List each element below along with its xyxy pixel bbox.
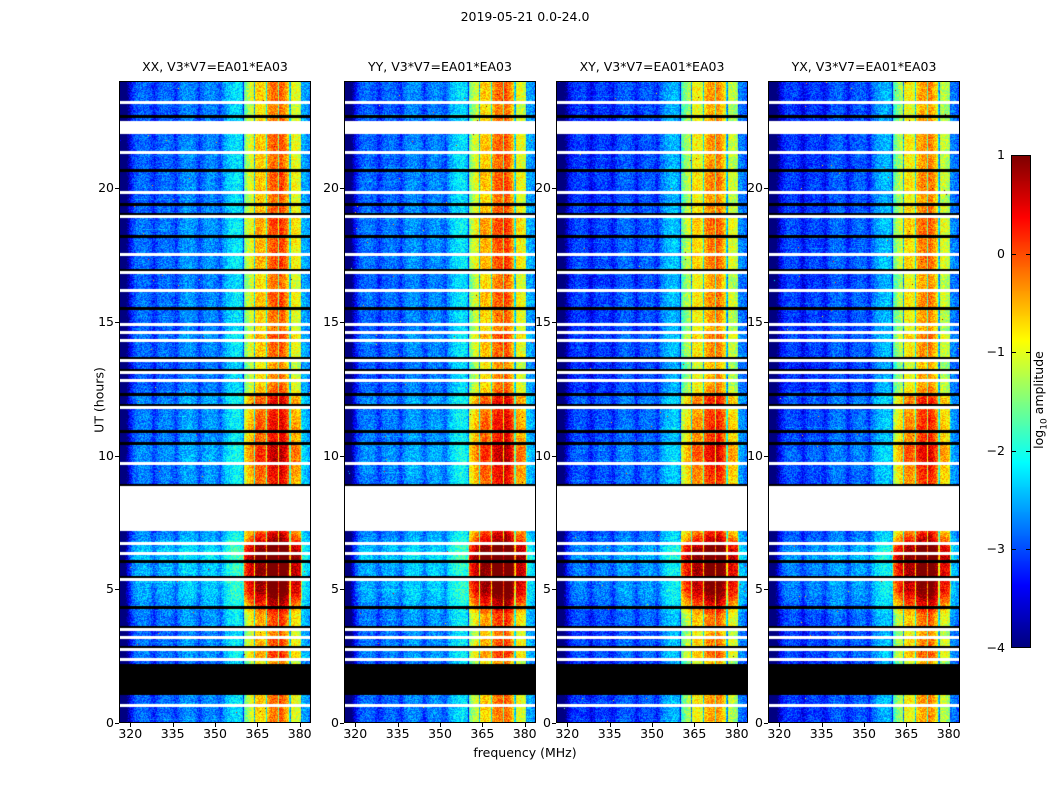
- figure-suptitle: 2019-05-21 0.0-24.0: [0, 9, 1050, 24]
- y-tick-label: 5: [543, 583, 551, 596]
- colorbar-tick-label: −4: [987, 642, 1005, 655]
- panel-yy[interactable]: YY, V3*V7=EA01*EA03051015203203353503653…: [344, 81, 536, 723]
- colorbar-tick-label: −2: [987, 445, 1005, 458]
- x-tick-label: 335: [810, 728, 834, 741]
- y-tick-mark: [115, 456, 119, 457]
- x-tick-label: 350: [428, 728, 452, 741]
- y-tick-label: 0: [755, 717, 763, 730]
- panel-title-yy: YY, V3*V7=EA01*EA03: [344, 59, 536, 74]
- y-tick-mark: [552, 723, 556, 724]
- y-tick-mark: [115, 322, 119, 323]
- colorbar-tick-mark: [1026, 254, 1031, 255]
- y-tick-label: 20: [535, 182, 551, 195]
- panel-frame: [768, 81, 960, 723]
- y-tick-label: 5: [331, 583, 339, 596]
- y-tick-label: 15: [535, 316, 551, 329]
- y-tick-mark: [340, 723, 344, 724]
- x-tick-label: 335: [386, 728, 410, 741]
- panel-frame: [556, 81, 748, 723]
- panel-title-xy: XY, V3*V7=EA01*EA03: [556, 59, 748, 74]
- panel-xx[interactable]: XX, V3*V7=EA01*EA03051015203203353503653…: [119, 81, 311, 723]
- y-axis-label: UT (hours): [91, 367, 106, 433]
- colorbar-label-prefix: log: [1031, 430, 1046, 449]
- x-tick-label: 335: [598, 728, 622, 741]
- y-tick-mark: [764, 456, 768, 457]
- y-tick-label: 0: [331, 717, 339, 730]
- y-tick-mark: [552, 589, 556, 590]
- y-tick-label: 10: [535, 449, 551, 462]
- y-tick-label: 10: [98, 449, 114, 462]
- y-tick-mark: [552, 322, 556, 323]
- x-tick-label: 380: [937, 728, 961, 741]
- panel-xy[interactable]: XY, V3*V7=EA01*EA03051015203203353503653…: [556, 81, 748, 723]
- x-tick-label: 320: [555, 728, 579, 741]
- y-tick-label: 10: [323, 449, 339, 462]
- y-tick-mark: [115, 188, 119, 189]
- colorbar-tick-mark: [1011, 549, 1016, 550]
- x-tick-label: 320: [118, 728, 142, 741]
- x-tick-label: 380: [513, 728, 537, 741]
- y-tick-label: 20: [747, 182, 763, 195]
- x-tick-label: 380: [725, 728, 749, 741]
- y-tick-mark: [764, 589, 768, 590]
- y-tick-label: 15: [747, 316, 763, 329]
- y-tick-label: 20: [98, 182, 114, 195]
- colorbar-tick-label: −3: [987, 543, 1005, 556]
- x-tick-label: 320: [767, 728, 791, 741]
- y-tick-label: 5: [755, 583, 763, 596]
- colorbar-tick-label: −1: [987, 346, 1005, 359]
- colorbar-tick-label: 1: [997, 149, 1005, 162]
- colorbar-tick-mark: [1011, 254, 1016, 255]
- y-tick-mark: [340, 188, 344, 189]
- colorbar-tick-label: 0: [997, 247, 1005, 260]
- x-tick-label: 320: [343, 728, 367, 741]
- colorbar-label: log10 amplitude: [1031, 351, 1050, 449]
- x-tick-label: 335: [161, 728, 185, 741]
- y-tick-mark: [764, 322, 768, 323]
- x-tick-label: 350: [852, 728, 876, 741]
- y-tick-label: 15: [98, 316, 114, 329]
- y-tick-mark: [115, 589, 119, 590]
- x-tick-label: 350: [203, 728, 227, 741]
- panel-frame: [344, 81, 536, 723]
- colorbar-label-suffix: amplitude: [1031, 351, 1046, 418]
- colorbar-frame: [1011, 155, 1031, 648]
- y-tick-label: 15: [323, 316, 339, 329]
- y-tick-mark: [340, 456, 344, 457]
- y-tick-mark: [552, 456, 556, 457]
- y-tick-mark: [764, 188, 768, 189]
- figure-canvas: 2019-05-21 0.0-24.0 UT (hours) frequency…: [0, 0, 1050, 800]
- x-tick-label: 365: [682, 728, 706, 741]
- y-tick-label: 5: [106, 583, 114, 596]
- y-tick-label: 20: [323, 182, 339, 195]
- colorbar[interactable]: 10−1−2−3−4: [1011, 155, 1031, 648]
- panel-frame: [119, 81, 311, 723]
- colorbar-tick-mark: [1026, 549, 1031, 550]
- colorbar-label-sub: 10: [1039, 418, 1049, 429]
- x-tick-label: 380: [288, 728, 312, 741]
- y-tick-label: 0: [106, 717, 114, 730]
- x-axis-label: frequency (MHz): [0, 745, 1050, 760]
- x-tick-label: 365: [245, 728, 269, 741]
- x-tick-label: 350: [640, 728, 664, 741]
- colorbar-tick-mark: [1011, 451, 1016, 452]
- panel-title-yx: YX, V3*V7=EA01*EA03: [768, 59, 960, 74]
- y-tick-mark: [340, 589, 344, 590]
- colorbar-tick-mark: [1026, 451, 1031, 452]
- y-tick-label: 10: [747, 449, 763, 462]
- y-tick-mark: [115, 723, 119, 724]
- y-tick-mark: [340, 322, 344, 323]
- x-tick-label: 365: [470, 728, 494, 741]
- panel-yx[interactable]: YX, V3*V7=EA01*EA03051015203203353503653…: [768, 81, 960, 723]
- colorbar-tick-mark: [1011, 352, 1016, 353]
- y-tick-mark: [764, 723, 768, 724]
- y-tick-mark: [552, 188, 556, 189]
- panel-title-xx: XX, V3*V7=EA01*EA03: [119, 59, 311, 74]
- y-tick-label: 0: [543, 717, 551, 730]
- x-tick-label: 365: [894, 728, 918, 741]
